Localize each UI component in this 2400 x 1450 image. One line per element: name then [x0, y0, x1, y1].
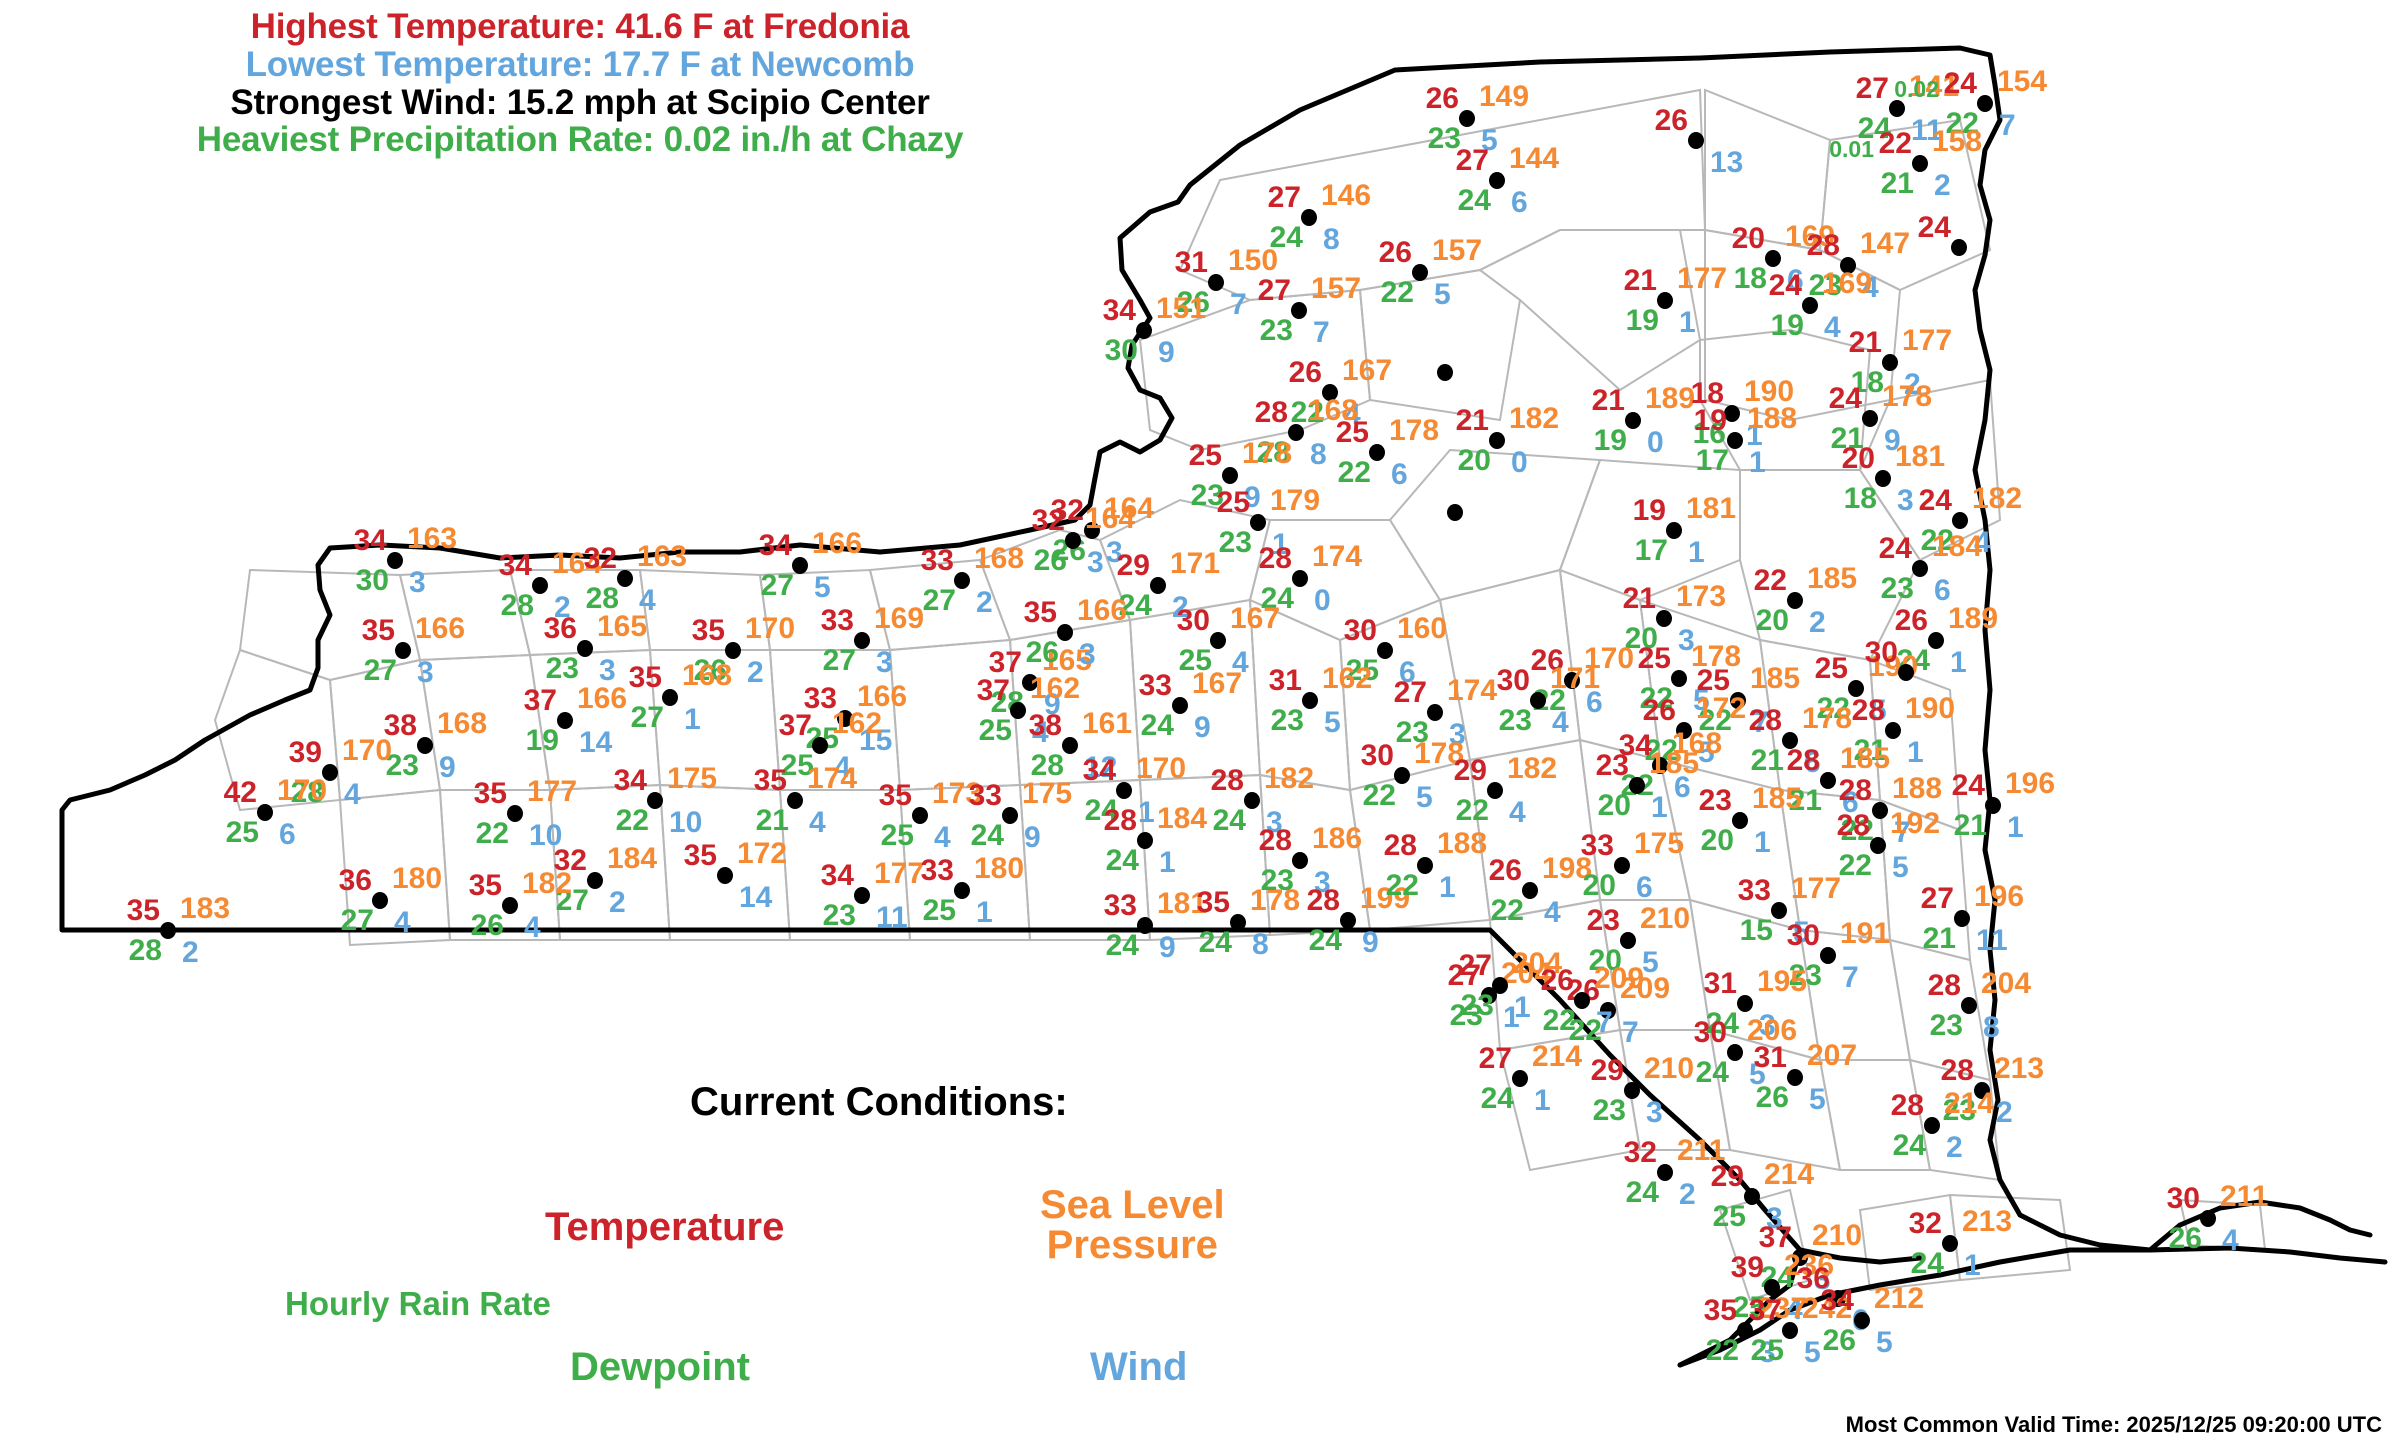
station-pressure: 160 [1397, 614, 1447, 644]
station-temperature: 24 [1952, 771, 1985, 801]
station-pressure: 185 [1807, 564, 1857, 594]
station-dewpoint: 27 [761, 571, 794, 601]
station-marker-icon [577, 640, 593, 657]
station-marker-icon [1489, 432, 1505, 449]
station-pressure: 184 [607, 844, 657, 874]
station-pressure: 173 [1676, 582, 1726, 612]
station-wind: 7 [1596, 1008, 1613, 1038]
station-wind: 3 [417, 658, 434, 688]
station-dewpoint: 26 [471, 911, 504, 941]
station-marker-icon [1250, 514, 1266, 531]
station-pressure: 146 [1321, 181, 1371, 211]
station-pressure: 211 [2220, 1182, 2268, 1212]
station-dewpoint: 22 [1543, 1006, 1576, 1036]
station-temperature: 31 [1175, 248, 1208, 278]
station-pressure: 182 [1509, 404, 1559, 434]
station-temperature: 32 [1032, 506, 1065, 536]
lowest-temperature-line: Lowest Temperature: 17.7 F at Newcomb [0, 46, 1160, 84]
station-dewpoint: 17 [1635, 536, 1668, 566]
station-temperature: 32 [584, 544, 617, 574]
station-dewpoint: 26 [1026, 638, 1059, 668]
station-marker-icon [1820, 772, 1836, 789]
station-dewpoint: 22 [1386, 871, 1419, 901]
station-wind: 4 [1552, 708, 1569, 738]
station-temperature: 26 [1895, 606, 1928, 636]
station-marker-icon [1614, 857, 1630, 874]
station-dewpoint: 27 [823, 646, 856, 676]
station-dewpoint: 20 [1583, 871, 1616, 901]
station-dewpoint: 23 [1261, 866, 1294, 896]
station-pressure: 174 [1312, 542, 1362, 572]
station-wind: 14 [579, 728, 612, 758]
station-temperature: 35 [1024, 598, 1057, 628]
station-marker-icon [1530, 692, 1546, 709]
station-pressure: 188 [1747, 404, 1797, 434]
station-marker-icon [1625, 412, 1641, 429]
station-marker-icon [1656, 610, 1672, 627]
summary-header: Highest Temperature: 41.6 F at Fredonia … [0, 8, 1160, 159]
station-dewpoint: 26 [2169, 1224, 2202, 1254]
station-marker-icon [1985, 797, 2001, 814]
station-dewpoint: 24 [1626, 1178, 1659, 1208]
station-pressure: 174 [807, 764, 857, 794]
heaviest-precipitation-line: Heaviest Precipitation Rate: 0.02 in./h … [0, 121, 1160, 159]
station-temperature: 35 [469, 871, 502, 901]
station-pressure: 175 [1022, 779, 1072, 809]
station-dewpoint: 28 [129, 936, 162, 966]
station-dewpoint: 19 [1594, 426, 1627, 456]
station-temperature: 27 [1856, 74, 1889, 104]
station-temperature: 33 [1738, 876, 1771, 906]
station-wind: 5 [1434, 280, 1451, 310]
station-marker-icon [1782, 1322, 1798, 1339]
station-marker-icon [1882, 354, 1898, 371]
station-pressure: 196 [1974, 882, 2024, 912]
station-marker-icon [1002, 807, 1018, 824]
station-temperature: 21 [1592, 386, 1625, 416]
station-dewpoint: 22 [476, 819, 509, 849]
station-marker-icon [1624, 1082, 1640, 1099]
station-pressure: 165 [597, 612, 647, 642]
station-pressure: 209 [1594, 964, 1644, 994]
station-marker-icon [1522, 882, 1538, 899]
station-dewpoint: 27 [364, 656, 397, 686]
station-marker-icon [1657, 292, 1673, 309]
station-marker-icon [854, 887, 870, 904]
station-pressure: 163 [637, 542, 687, 572]
station-wind: 2 [1809, 608, 1826, 638]
station-marker-icon [1377, 642, 1393, 659]
station-marker-icon [395, 642, 411, 659]
station-dewpoint: 22 [616, 806, 649, 836]
station-wind: 9 [1159, 933, 1176, 963]
station-temperature: 28 [1852, 696, 1885, 726]
station-wind: 4 [394, 908, 411, 938]
station-marker-icon [1172, 697, 1188, 714]
station-temperature: 30 [2167, 1184, 2200, 1214]
station-pressure: 177 [1902, 326, 1952, 356]
station-marker-icon [912, 807, 928, 824]
station-temperature: 33 [1104, 891, 1137, 921]
station-temperature: 31 [1754, 1043, 1787, 1073]
station-pressure: 177 [527, 777, 577, 807]
station-temperature: 29 [1591, 1056, 1624, 1086]
station-pressure: 170 [745, 614, 795, 644]
station-rain-rate: 0.02 [1894, 78, 1939, 101]
station-marker-icon [1574, 992, 1590, 1009]
station-marker-icon [1898, 664, 1914, 681]
station-pressure: 178 [1389, 416, 1439, 446]
station-temperature: 28 [1307, 886, 1340, 916]
station-pressure: 181 [1686, 494, 1736, 524]
station-temperature: 31 [1704, 969, 1737, 999]
station-marker-icon [1820, 947, 1836, 964]
station-marker-icon [1657, 1164, 1673, 1181]
station-marker-icon [1302, 692, 1318, 709]
station-dewpoint: 15 [1740, 916, 1773, 946]
station-wind: 5 [1416, 783, 1433, 813]
station-dewpoint: 22 [1456, 796, 1489, 826]
station-marker-icon [1629, 777, 1645, 794]
station-pressure: 214 [1532, 1042, 1582, 1072]
station-wind: 3 [1087, 548, 1104, 578]
station-temperature: 22 [1754, 566, 1787, 596]
station-marker-icon [1942, 1235, 1958, 1252]
station-marker-icon [1447, 504, 1463, 521]
strongest-wind-line: Strongest Wind: 15.2 mph at Scipio Cente… [0, 84, 1160, 122]
station-pressure: 207 [1807, 1041, 1857, 1071]
station-marker-icon [1301, 209, 1317, 226]
station-wind: 5 [814, 573, 831, 603]
station-wind: 10 [669, 808, 702, 838]
station-wind: 8 [1983, 1013, 2000, 1043]
station-marker-icon [1116, 782, 1132, 799]
station-wind: 3 [1079, 640, 1096, 670]
station-temperature: 35 [127, 896, 160, 926]
station-dewpoint: 19 [526, 726, 559, 756]
station-wind: 8 [1310, 440, 1327, 470]
station-temperature: 25 [1336, 418, 1369, 448]
station-pressure: 189 [1948, 604, 1998, 634]
station-temperature: 34 [614, 766, 647, 796]
station-dewpoint: 24 [1696, 1058, 1729, 1088]
station-dewpoint: 20 [1458, 446, 1491, 476]
station-wind: 6 [279, 820, 296, 850]
station-marker-icon [1230, 914, 1246, 931]
station-pressure: 184 [1932, 532, 1982, 562]
station-temperature: 28 [1837, 811, 1870, 841]
station-temperature: 26 [1379, 238, 1412, 268]
station-marker-icon [1744, 1188, 1760, 1205]
station-wind: 1 [1439, 873, 1456, 903]
station-dewpoint: 22 [1706, 1336, 1739, 1366]
station-pressure: 204 [1981, 969, 2031, 999]
station-pressure: 150 [1228, 246, 1278, 276]
station-dewpoint: 21 [1923, 924, 1956, 954]
station-marker-icon [387, 552, 403, 569]
station-temperature: 35 [1704, 1296, 1737, 1326]
station-marker-icon [1057, 624, 1073, 641]
station-pressure: 166 [577, 684, 627, 714]
station-marker-icon [1862, 410, 1878, 427]
station-wind: 2 [1946, 1133, 1963, 1163]
station-dewpoint: 30 [356, 566, 389, 596]
station-marker-icon [1210, 632, 1226, 649]
station-pressure: 180 [392, 864, 442, 894]
station-wind: 0 [1314, 586, 1331, 616]
station-pressure: 191 [1840, 919, 1890, 949]
station-marker-icon [1666, 522, 1682, 539]
station-temperature: 37 [779, 711, 812, 741]
station-dewpoint: 20 [1598, 791, 1631, 821]
station-wind: 4 [934, 823, 951, 853]
station-wind: 1 [1964, 1251, 1981, 1281]
station-temperature: 34 [1103, 296, 1136, 326]
station-marker-icon [507, 805, 523, 822]
station-marker-icon [1062, 737, 1078, 754]
station-pressure: 181 [1895, 442, 1945, 472]
station-marker-icon [1727, 432, 1743, 449]
station-pressure: 175 [667, 764, 717, 794]
station-temperature: 35 [879, 781, 912, 811]
station-dewpoint: 25 [979, 716, 1012, 746]
station-dewpoint: 25 [226, 818, 259, 848]
station-temperature: 32 [1909, 1209, 1942, 1239]
station-pressure: 178 [1802, 704, 1852, 734]
station-marker-icon [1150, 577, 1166, 594]
station-wind: 11 [876, 903, 908, 933]
station-pressure: 171 [1550, 664, 1600, 694]
station-wind: 7 [1842, 963, 1859, 993]
station-marker-icon [1889, 100, 1905, 117]
station-temperature: 35 [629, 663, 662, 693]
station-pressure: 177 [1677, 264, 1727, 294]
station-pressure: 149 [1479, 82, 1529, 112]
station-wind: 7 [1230, 290, 1247, 320]
station-wind: 1 [1950, 648, 1967, 678]
station-wind: 1 [1159, 848, 1176, 878]
station-temperature: 39 [1731, 1253, 1764, 1283]
station-dewpoint: 20 [1756, 606, 1789, 636]
station-wind: 0 [1511, 448, 1528, 478]
highest-temperature-line: Highest Temperature: 41.6 F at Fredonia [0, 8, 1160, 46]
station-wind: 2 [1996, 1098, 2013, 1128]
station-temperature: 26 [1643, 696, 1676, 726]
station-dewpoint: 23 [823, 901, 856, 931]
station-temperature: 29 [1454, 756, 1487, 786]
station-pressure: 182 [522, 869, 572, 899]
station-dewpoint: 24 [1199, 928, 1232, 958]
station-temperature: 27 [1921, 884, 1954, 914]
station-marker-icon [812, 737, 828, 754]
station-marker-icon [1137, 917, 1153, 934]
station-pressure: 186 [1312, 824, 1362, 854]
station-dewpoint: 23 [546, 654, 579, 684]
station-dewpoint: 26 [1756, 1083, 1789, 1113]
station-marker-icon [1437, 364, 1453, 381]
station-temperature: 28 [1749, 706, 1782, 736]
station-temperature: 23 [1596, 751, 1629, 781]
station-dewpoint: 23 [1461, 991, 1494, 1021]
station-temperature: 37 [977, 676, 1010, 706]
station-pressure: 196 [2005, 769, 2055, 799]
station-temperature: 30 [1497, 666, 1530, 696]
station-pressure: 166 [415, 614, 465, 644]
station-temperature: 35 [362, 616, 395, 646]
station-wind: 4 [1544, 898, 1561, 928]
station-wind: 5 [1892, 853, 1909, 883]
station-marker-icon [160, 922, 176, 939]
station-pressure: 172 [737, 839, 787, 869]
station-wind: 1 [1907, 738, 1924, 768]
station-dewpoint: 22 [1363, 781, 1396, 811]
station-temperature: 24 [1879, 534, 1912, 564]
station-pressure: 177 [1791, 874, 1841, 904]
station-temperature: 27 [1394, 678, 1427, 708]
station-dewpoint: 17 [1696, 446, 1729, 476]
station-pressure: 158 [1932, 127, 1982, 157]
station-temperature: 28 [1259, 544, 1292, 574]
station-dewpoint: 18 [1844, 484, 1877, 514]
station-temperature: 34 [1083, 756, 1116, 786]
legend-temperature-label: Temperature [545, 1205, 784, 1250]
station-marker-icon [1459, 110, 1475, 127]
legend-pressure-label: Sea Level Pressure [1040, 1185, 1225, 1265]
station-marker-icon [1427, 704, 1443, 721]
station-dewpoint: 26 [1034, 546, 1067, 576]
station-temperature: 39 [289, 738, 322, 768]
station-pressure: 162 [1322, 664, 1372, 694]
station-dewpoint: 27 [341, 906, 374, 936]
station-marker-icon [954, 882, 970, 899]
station-temperature: 25 [1815, 654, 1848, 684]
station-wind: 4 [1509, 798, 1526, 828]
station-temperature: 28 [1384, 831, 1417, 861]
station-temperature: 37 [524, 686, 557, 716]
station-dewpoint: 19 [1771, 311, 1804, 341]
station-temperature: 24 [1829, 384, 1862, 414]
station-marker-icon [1487, 782, 1503, 799]
station-dewpoint: 23 [1881, 574, 1914, 604]
station-dewpoint: 24 [1106, 931, 1139, 961]
station-temperature: 30 [1344, 616, 1377, 646]
station-pressure: 210 [1812, 1221, 1862, 1251]
station-pressure: 177 [874, 859, 924, 889]
station-temperature: 31 [1269, 666, 1302, 696]
station-pressure: 195 [1757, 967, 1807, 997]
station-temperature: 30 [1361, 741, 1394, 771]
station-marker-icon [1912, 560, 1928, 577]
station-wind: 8 [1323, 225, 1340, 255]
station-dewpoint: 22 [1839, 851, 1872, 881]
station-temperature: 34 [354, 526, 387, 556]
station-wind: 6 [1636, 873, 1653, 903]
station-temperature: 26 [1541, 966, 1574, 996]
station-temperature: 33 [969, 781, 1002, 811]
station-temperature: 30 [1865, 638, 1898, 668]
station-temperature: 35 [1197, 888, 1230, 918]
station-marker-icon [1802, 297, 1818, 314]
weather-map-page: Highest Temperature: 41.6 F at Fredonia … [0, 0, 2400, 1450]
station-dewpoint: 25 [881, 821, 914, 851]
station-pressure: 188 [1892, 774, 1942, 804]
station-marker-icon [417, 737, 433, 754]
station-temperature: 22 [1879, 129, 1912, 159]
station-marker-icon [1961, 997, 1977, 1014]
station-marker-icon [1885, 722, 1901, 739]
station-pressure: 183 [180, 894, 230, 924]
legend-dewpoint-label: Dewpoint [570, 1345, 750, 1390]
station-temperature: 35 [692, 616, 725, 646]
station-temperature: 33 [1581, 831, 1614, 861]
station-marker-icon [954, 572, 970, 589]
station-pressure: 169 [1822, 269, 1872, 299]
station-dewpoint: 24 [1309, 926, 1342, 956]
station-marker-icon [1671, 670, 1687, 687]
station-wind: 11 [1976, 926, 2008, 956]
station-marker-icon [1771, 902, 1787, 919]
station-temperature: 30 [1694, 1018, 1727, 1048]
station-marker-icon [1010, 702, 1026, 719]
station-dewpoint: 21 [1881, 169, 1914, 199]
station-marker-icon [1912, 155, 1928, 172]
station-temperature: 29 [1711, 1162, 1744, 1192]
station-dewpoint: 21 [1954, 811, 1987, 841]
station-marker-icon [1065, 532, 1081, 549]
station-wind: 2 [747, 658, 764, 688]
station-temperature: 24 [1918, 213, 1951, 243]
station-dewpoint: 22 [1338, 458, 1371, 488]
station-wind: 1 [1138, 798, 1155, 828]
station-temperature: 20 [1732, 224, 1765, 254]
station-dewpoint: 24 [971, 821, 1004, 851]
station-marker-icon [257, 804, 273, 821]
station-wind: 1 [1688, 538, 1705, 568]
station-marker-icon [1620, 932, 1636, 949]
station-temperature: 26 [1426, 84, 1459, 114]
station-temperature: 28 [1255, 398, 1288, 428]
station-marker-icon [1688, 132, 1704, 149]
station-dewpoint: 24 [1458, 186, 1491, 216]
station-dewpoint: 23 [1219, 528, 1252, 558]
station-wind: 6 [1391, 460, 1408, 490]
station-temperature: 27 [1459, 951, 1492, 981]
station-marker-icon [1291, 302, 1307, 319]
station-marker-icon [1872, 802, 1888, 819]
station-pressure: 172 [1696, 694, 1746, 724]
station-dewpoint: 23 [1271, 706, 1304, 736]
station-temperature: 28 [1104, 806, 1137, 836]
station-temperature: 36 [339, 866, 372, 896]
station-pressure: 161 [1082, 709, 1132, 739]
station-temperature: 27 [1479, 1044, 1512, 1074]
station-pressure: 162 [1030, 674, 1080, 704]
station-temperature: 24 [1944, 69, 1977, 99]
station-wind: 4 [1824, 313, 1841, 343]
station-marker-icon [1136, 322, 1152, 339]
station-pressure: 167 [1342, 356, 1392, 386]
station-wind: 1 [1514, 993, 1531, 1023]
station-marker-icon [1492, 977, 1508, 994]
station-pressure: 178 [1882, 382, 1932, 412]
station-wind: 2 [976, 588, 993, 618]
station-marker-icon [1977, 95, 1993, 112]
station-marker-icon [1854, 1312, 1870, 1329]
station-pressure: 188 [1437, 829, 1487, 859]
station-dewpoint: 21 [1751, 746, 1784, 776]
station-temperature: 33 [921, 856, 954, 886]
station-temperature: 28 [1259, 826, 1292, 856]
